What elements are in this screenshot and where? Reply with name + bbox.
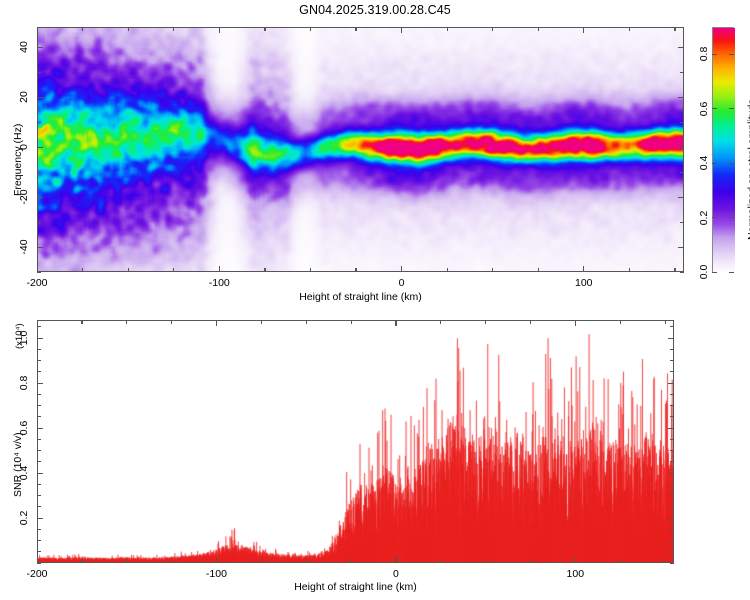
snr-y-tick — [670, 394, 674, 395]
spectrogram-x-tick — [310, 27, 311, 31]
snr-x-tick — [351, 559, 352, 563]
spectrogram-y-tick — [680, 72, 684, 73]
snr-x-tick — [395, 320, 396, 326]
spectrogram-y-tick — [37, 122, 41, 123]
snr-x-tick — [126, 320, 127, 324]
snr-y-tick — [37, 506, 41, 507]
snr-y-tick — [37, 518, 43, 519]
spectrogram-x-tick-label: 100 — [575, 277, 593, 289]
spectrogram-x-tick — [173, 268, 174, 272]
colorbar-tick-label: 0.4 — [698, 156, 710, 171]
snr-x-tick — [171, 559, 172, 563]
snr-x-tick — [216, 557, 217, 563]
snr-y-tick — [670, 416, 674, 417]
snr-y-tick — [37, 529, 41, 530]
spectrogram-y-tick — [37, 197, 43, 198]
snr-y-tick — [37, 349, 41, 350]
spectrogram-x-tick — [583, 266, 584, 272]
spectrogram-y-tick — [37, 272, 41, 273]
colorbar-tick — [729, 54, 734, 55]
snr-x-tick — [575, 557, 576, 563]
spectrogram-x-tick — [583, 27, 584, 33]
colorbar-tick — [729, 163, 734, 164]
snr-x-tick — [665, 559, 666, 563]
snr-y-tick — [37, 563, 41, 564]
snr-y-tick — [668, 518, 674, 519]
spectrogram-x-tick-label: -200 — [26, 277, 47, 289]
spectrogram-x-tick — [173, 27, 174, 31]
colorbar-tick — [729, 272, 734, 273]
figure-title: GN04.2025.319.00.28.C45 — [0, 3, 750, 17]
snr-y-tick — [37, 495, 41, 496]
snr-x-tick — [81, 559, 82, 563]
snr-x-tick — [261, 320, 262, 324]
spectrogram-y-tick — [680, 222, 684, 223]
spectrogram-panel — [37, 27, 684, 272]
spectrogram-x-tick — [264, 27, 265, 31]
snr-y-tick — [670, 371, 674, 372]
colorbar-tick — [712, 217, 717, 218]
spectrogram-y-tick — [37, 222, 41, 223]
spectrogram-y-tick — [680, 172, 684, 173]
colorbar-tick — [712, 272, 717, 273]
spectrogram-x-tick — [629, 27, 630, 31]
snr-x-tick — [37, 320, 38, 326]
snr-x-tick — [306, 559, 307, 563]
spectrogram-y-tick — [37, 247, 43, 248]
spectrogram-x-tick — [82, 27, 83, 31]
snr-y-tick — [670, 349, 674, 350]
snr-y-tick — [37, 394, 41, 395]
snr-y-axis-label: SNR (10⁴ v/v) — [12, 432, 24, 497]
spectrogram-y-tick — [678, 247, 684, 248]
colorbar-tick-label: 0.6 — [698, 101, 710, 116]
figure-root: GN04.2025.319.00.28.C45 -200-10001004020… — [0, 0, 750, 600]
snr-panel — [37, 320, 674, 563]
snr-x-tick — [261, 559, 262, 563]
spectrogram-x-tick-label: -100 — [209, 277, 230, 289]
spectrogram-x-tick — [447, 268, 448, 272]
snr-x-tick — [351, 320, 352, 324]
spectrogram-y-tick — [37, 47, 43, 48]
snr-y-tick — [668, 473, 674, 474]
snr-x-tick — [665, 320, 666, 324]
spectrogram-x-axis-label: Height of straight line (km) — [37, 291, 684, 303]
snr-y-tick — [37, 405, 41, 406]
spectrogram-x-tick — [264, 268, 265, 272]
snr-x-tick — [620, 320, 621, 324]
spectrogram-y-tick — [37, 72, 41, 73]
snr-y-tick — [668, 383, 674, 384]
snr-y-tick — [670, 540, 674, 541]
snr-y-tick — [670, 461, 674, 462]
snr-y-tick — [37, 360, 41, 361]
spectrogram-y-tick-label: -40 — [18, 239, 30, 254]
spectrogram-image — [38, 28, 683, 271]
spectrogram-x-tick — [219, 27, 220, 33]
spectrogram-x-tick — [310, 268, 311, 272]
snr-x-tick — [440, 559, 441, 563]
spectrogram-y-tick — [678, 97, 684, 98]
spectrogram-y-tick — [678, 47, 684, 48]
spectrogram-y-tick — [680, 272, 684, 273]
snr-y-tick — [670, 563, 674, 564]
spectrogram-y-tick — [678, 197, 684, 198]
colorbar-tick-label: 0.0 — [698, 265, 710, 280]
snr-y-tick — [37, 416, 41, 417]
snr-x-tick — [530, 559, 531, 563]
spectrogram-x-tick — [82, 268, 83, 272]
spectrogram-y-tick — [37, 147, 43, 148]
snr-x-tick — [440, 320, 441, 324]
spectrogram-y-tick — [678, 147, 684, 148]
snr-y-tick — [37, 461, 41, 462]
snr-trace-plot — [38, 321, 673, 562]
colorbar-tick — [712, 108, 717, 109]
snr-x-tick — [306, 320, 307, 324]
snr-x-tick — [620, 559, 621, 563]
snr-x-tick — [485, 559, 486, 563]
snr-x-tick — [126, 559, 127, 563]
snr-y-tick — [37, 383, 43, 384]
spectrogram-x-tick — [674, 268, 675, 272]
snr-x-tick — [575, 320, 576, 326]
spectrogram-x-tick — [629, 268, 630, 272]
snr-y-tick — [670, 405, 674, 406]
spectrogram-x-tick — [355, 268, 356, 272]
spectrogram-x-tick — [447, 27, 448, 31]
spectrogram-x-tick — [538, 27, 539, 31]
colorbar-tick — [712, 54, 717, 55]
snr-y-tick-label: 0.8 — [18, 376, 30, 391]
snr-x-tick-label: -100 — [206, 568, 227, 580]
colorbar-tick — [729, 108, 734, 109]
spectrogram-y-tick-label: 40 — [18, 41, 30, 53]
snr-x-tick — [81, 320, 82, 324]
spectrogram-y-axis-label: Frequency (Hz) — [12, 124, 24, 196]
snr-x-tick — [395, 557, 396, 563]
snr-x-axis-label: Height of straight line (km) — [37, 581, 674, 593]
snr-y-tick — [37, 326, 41, 327]
spectrogram-x-tick — [219, 266, 220, 272]
snr-x-tick-label: 100 — [567, 568, 585, 580]
snr-y-tick — [670, 551, 674, 552]
snr-y-tick-label: 0.2 — [18, 511, 30, 526]
snr-y-tick — [37, 371, 41, 372]
snr-x-tick-label: -200 — [26, 568, 47, 580]
spectrogram-y-tick-label: 20 — [18, 91, 30, 103]
spectrogram-x-tick — [128, 27, 129, 31]
snr-y-tick — [37, 338, 43, 339]
spectrogram-y-tick — [37, 172, 41, 173]
spectrogram-x-tick — [538, 268, 539, 272]
snr-y-tick — [670, 529, 674, 530]
snr-x-tick — [530, 320, 531, 324]
snr-y-tick — [670, 326, 674, 327]
spectrogram-x-tick — [355, 27, 356, 31]
spectrogram-x-tick — [37, 27, 38, 33]
snr-y-tick — [37, 473, 43, 474]
snr-y-tick — [37, 551, 41, 552]
spectrogram-x-tick — [401, 266, 402, 272]
snr-x-tick-label: 0 — [393, 568, 399, 580]
snr-y-tick — [668, 428, 674, 429]
colorbar — [712, 27, 734, 272]
snr-y-tick — [668, 338, 674, 339]
snr-y-tick — [670, 495, 674, 496]
spectrogram-y-tick — [37, 97, 43, 98]
snr-y-tick — [37, 428, 43, 429]
spectrogram-x-tick — [492, 268, 493, 272]
snr-y-tick — [37, 439, 41, 440]
spectrogram-x-tick — [128, 268, 129, 272]
snr-y-tick — [37, 484, 41, 485]
colorbar-gradient — [713, 28, 735, 273]
snr-x-tick — [485, 320, 486, 324]
colorbar-label: Normalized spectral amplitude — [746, 99, 750, 240]
spectrogram-x-tick — [401, 27, 402, 33]
snr-x-tick — [216, 320, 217, 326]
snr-y-tick — [670, 450, 674, 451]
spectrogram-x-tick-label: 0 — [399, 277, 405, 289]
spectrogram-x-tick — [492, 27, 493, 31]
snr-y-tick — [670, 439, 674, 440]
colorbar-tick-label: 0.2 — [698, 210, 710, 225]
snr-y-tick — [670, 506, 674, 507]
snr-y-axis-exponent: (x10⁴) — [14, 323, 25, 349]
snr-y-tick — [37, 540, 41, 541]
spectrogram-y-tick — [680, 122, 684, 123]
snr-y-tick — [670, 360, 674, 361]
snr-y-tick — [37, 450, 41, 451]
snr-y-tick — [670, 484, 674, 485]
spectrogram-x-tick — [674, 27, 675, 31]
colorbar-tick — [712, 163, 717, 164]
snr-x-tick — [171, 320, 172, 324]
colorbar-tick — [729, 217, 734, 218]
colorbar-tick-label: 0.8 — [698, 47, 710, 62]
